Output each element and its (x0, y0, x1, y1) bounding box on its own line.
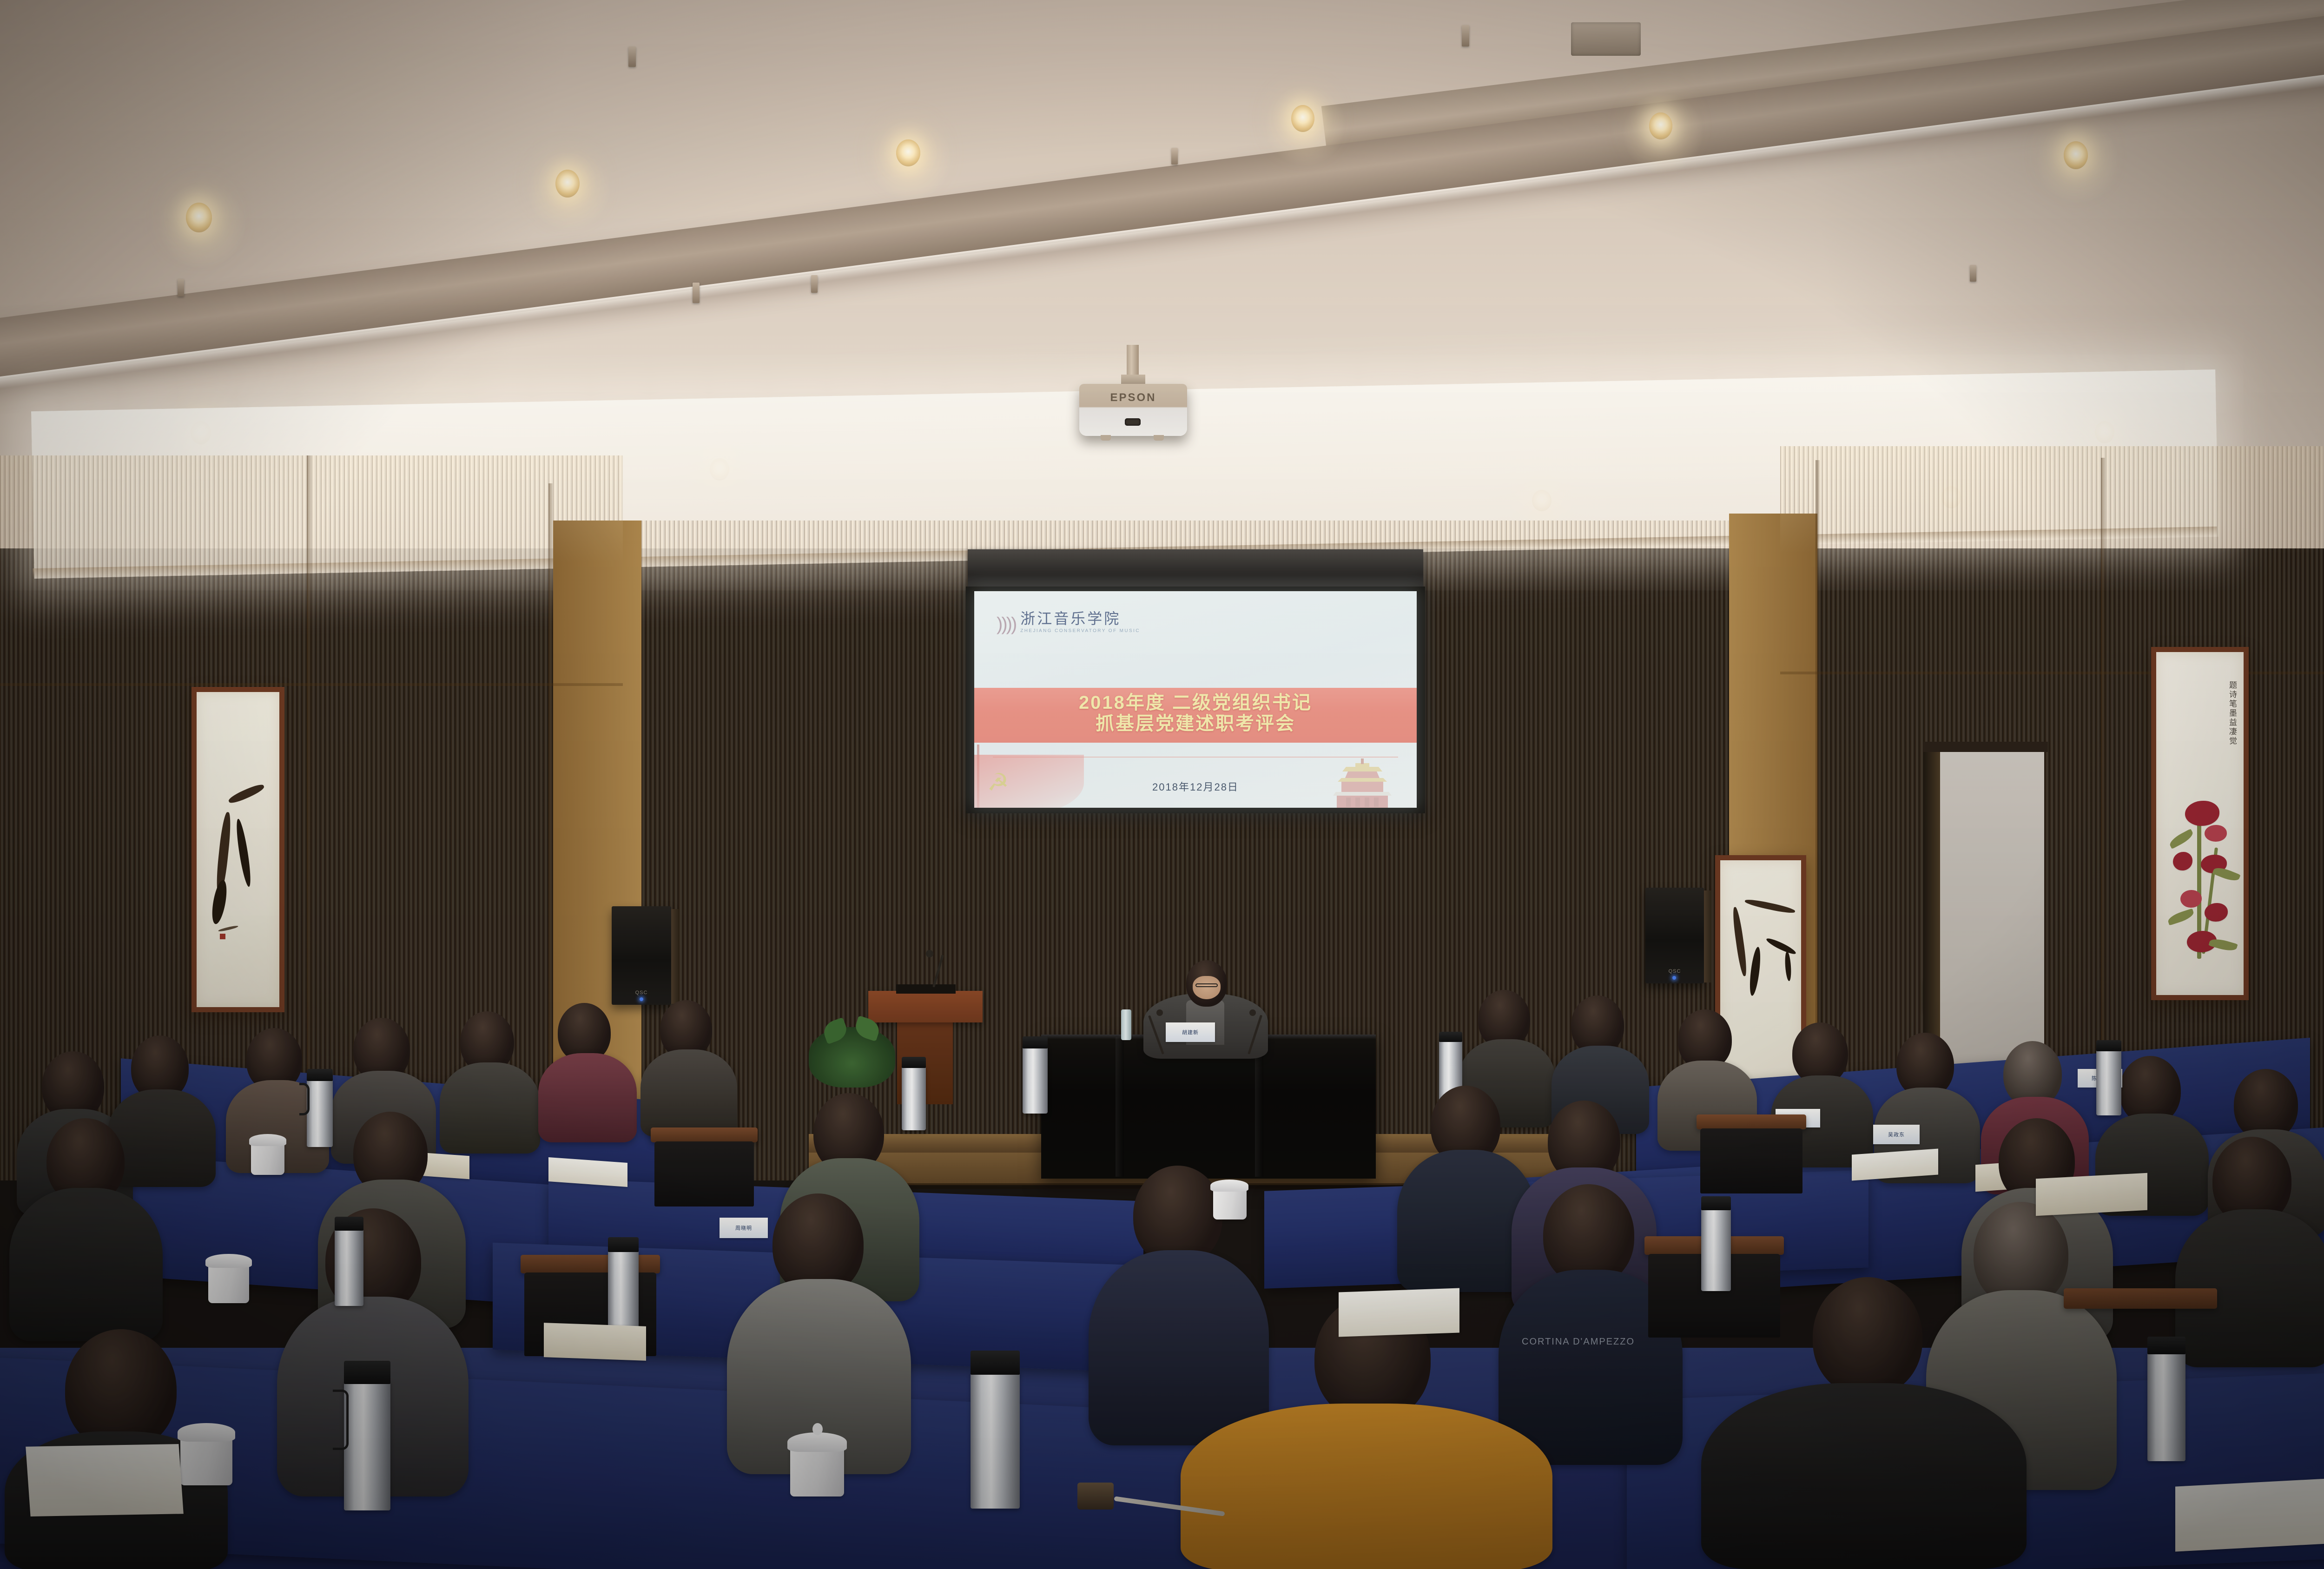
hammer-sickle-icon: ☭ (987, 771, 1009, 795)
notebook (2036, 1173, 2147, 1216)
projector-foot (1154, 435, 1164, 441)
projector: EPSON (1079, 384, 1187, 436)
tea-mug-lid (249, 1134, 286, 1146)
flower-petal (2180, 890, 2202, 908)
table-name-card-text: 周晓明 (735, 1224, 752, 1232)
wall-speaker-right-side (1704, 890, 1711, 982)
speaker-face (1193, 976, 1221, 999)
ink-brush-stroke (1765, 936, 1797, 956)
sprinkler-head (178, 279, 184, 297)
chair-rail (521, 1255, 660, 1273)
chair-rail (651, 1127, 758, 1142)
flower-leaf (2166, 909, 2195, 926)
artwork-left-ink-painting (191, 687, 284, 1012)
head-table-drape-fold (1255, 1037, 1263, 1177)
speaker-brand-label: QSC (612, 990, 671, 995)
wall-speaker-left: QSC (612, 906, 671, 1005)
projector-foot (1101, 435, 1111, 441)
speaker-name-card: 胡建新 (1166, 1022, 1215, 1042)
tea-mug-foreground (180, 1436, 232, 1485)
thermos-cap (1439, 1032, 1462, 1042)
thermos-cap (335, 1217, 363, 1231)
ceiling-downlight (896, 139, 920, 166)
sprinkler-head (1462, 25, 1469, 46)
wall-sheen-left (0, 455, 623, 651)
thermos-handle (333, 1390, 349, 1450)
chair-rail (2064, 1288, 2217, 1309)
projector-lens (1125, 418, 1141, 426)
flower-petal (2173, 852, 2192, 870)
wall-speaker-left-side (671, 909, 679, 1004)
ceiling-downlight (2064, 141, 2088, 169)
tea-mug-lid (178, 1423, 235, 1442)
scroll-inscription: 题诗笔墨益凄觉 (2227, 681, 2237, 797)
handout-paper (2175, 1478, 2324, 1551)
thermos-flask (1701, 1207, 1731, 1291)
flower-leaf (2168, 829, 2195, 849)
attendee-body (440, 1062, 540, 1154)
speaker-power-led (640, 997, 643, 1001)
thermos-cap (971, 1351, 1020, 1375)
tea-mug (1213, 1188, 1247, 1220)
thermos-cap (1701, 1196, 1731, 1210)
table-name-card-text: 吴政东 (1888, 1131, 1905, 1138)
sprinkler-head (628, 46, 636, 67)
tea-mug (208, 1264, 249, 1303)
thermos-cap (344, 1361, 390, 1384)
slide-logo: )))) 浙江音乐学院 ZHEJIANG CONSERVATORY OF MUS… (997, 607, 1140, 633)
thermos-cap (1023, 1036, 1048, 1048)
thermos-cap (2147, 1337, 2185, 1354)
wall-sheen-right (1780, 446, 2324, 641)
speaker-brand-label: QSC (1645, 969, 1704, 974)
ink-brush-stroke (1731, 907, 1749, 977)
table-microphone-head (1249, 1009, 1256, 1016)
flower-leaf (2212, 865, 2240, 883)
water-bottle (1121, 1009, 1131, 1040)
ceiling-downlight (555, 170, 580, 198)
thermos-cap (902, 1057, 926, 1068)
artist-seal (220, 934, 225, 939)
thermos-flask (2147, 1351, 2185, 1461)
flower-petal (2205, 903, 2228, 922)
ink-brush-stroke (227, 782, 265, 805)
sprinkler-head (1970, 265, 1976, 282)
ink-brush-stroke (210, 879, 229, 925)
projector-brand-label: EPSON (1079, 384, 1187, 404)
chair-rail (1697, 1114, 1806, 1129)
ink-wash (218, 925, 238, 932)
ceiling-downlight (186, 203, 212, 232)
tea-mug-foreground (790, 1446, 844, 1496)
microphone-base (1077, 1483, 1114, 1510)
attendee-body (640, 1049, 737, 1137)
lectern-microphone-head (926, 950, 933, 957)
jacket-brand-text: CORTINA D'AMPEZZO (1522, 1337, 1635, 1347)
table-name-card: 周晓明 (720, 1218, 768, 1238)
thermos-flask-foreground (344, 1380, 390, 1510)
thermos-flask (307, 1077, 333, 1147)
attendee-body-foreground (1701, 1383, 2027, 1569)
open-document (26, 1444, 184, 1516)
slide-title-band: 2018年度 二级党组织书记 抓基层党建述职考评会 (974, 688, 1417, 743)
lectern-reading-plate (896, 984, 956, 994)
sprinkler-head (693, 283, 700, 303)
thermos-flask (335, 1227, 363, 1306)
table-microphone-head (1156, 1009, 1163, 1016)
thermos-flask (2096, 1048, 2121, 1115)
door-header (1923, 742, 2048, 752)
thermos-cap (608, 1237, 639, 1252)
conservatory-seal-icon: )))) (997, 615, 1016, 633)
thermos-cap (307, 1069, 333, 1081)
attendee-body (538, 1053, 637, 1142)
thermos-cap (2096, 1040, 2121, 1051)
tea-mug-lid (1210, 1180, 1248, 1192)
thermos-flask-foreground (971, 1371, 1020, 1509)
notebook (544, 1323, 646, 1361)
ceiling-downlight (1291, 105, 1314, 132)
thermos-flask (608, 1249, 639, 1338)
slide-title-line-2: 抓基层党建述职考评会 (974, 713, 1417, 734)
ink-brush-stroke (1784, 951, 1792, 982)
ink-brush-stroke (234, 818, 253, 888)
tea-mug-lid (787, 1432, 847, 1452)
thermos-flask (902, 1065, 926, 1130)
slide-institution-cn: 浙江音乐学院 (1020, 607, 1140, 628)
attendee-body (9, 1188, 163, 1341)
presentation-slide: )))) 浙江音乐学院 ZHEJIANG CONSERVATORY OF MUS… (974, 591, 1417, 808)
potted-plant (809, 1027, 895, 1088)
attendee-head-foreground (1813, 1277, 1922, 1396)
slide-institution-en: ZHEJIANG CONSERVATORY OF MUSIC (1020, 628, 1140, 633)
thermos-flask (1023, 1045, 1048, 1114)
speaker-power-led (1672, 976, 1676, 980)
artwork-floral-scroll: 题诗笔墨益凄觉 (2151, 647, 2249, 1000)
attendee-body (108, 1089, 216, 1187)
tea-mug-lid (205, 1254, 252, 1268)
thermos-handle (299, 1083, 310, 1115)
flower-petal (2185, 801, 2219, 826)
ceiling-downlight (1649, 112, 1672, 139)
head-table-drape-fold (1116, 1037, 1124, 1177)
ceiling-vent (1571, 22, 1641, 56)
chair-back (654, 1141, 754, 1206)
tiananmen-illustration (1309, 753, 1416, 808)
tea-mug-knob (812, 1423, 823, 1435)
attendee-body-foreground-yellow (1181, 1404, 1552, 1569)
ink-brush-stroke (1748, 946, 1763, 996)
sprinkler-head (1171, 148, 1178, 165)
chair-back (1700, 1128, 1802, 1193)
wall-speaker-right: QSC (1645, 888, 1704, 983)
conference-hall-photo: EPSON )))) 浙江音乐学院 ZHEJIANG CONSERVATORY … (0, 0, 2324, 1569)
ink-brush-stroke (1744, 898, 1796, 915)
attendee-body (1089, 1250, 1269, 1445)
slide-title-line-1: 2018年度 二级党组织书记 (974, 688, 1417, 713)
sprinkler-head (811, 275, 818, 293)
lectern (868, 991, 983, 1022)
handout-paper (1339, 1288, 1459, 1337)
flower-petal (2205, 825, 2227, 842)
speaker-glasses (1195, 983, 1218, 987)
wall-reveal-left (0, 683, 623, 686)
table-name-card: 吴政东 (1873, 1125, 1920, 1144)
speaker-name-card-text: 胡建新 (1182, 1028, 1199, 1036)
party-flag: ☭ (974, 755, 1084, 808)
tea-mug (251, 1142, 284, 1175)
